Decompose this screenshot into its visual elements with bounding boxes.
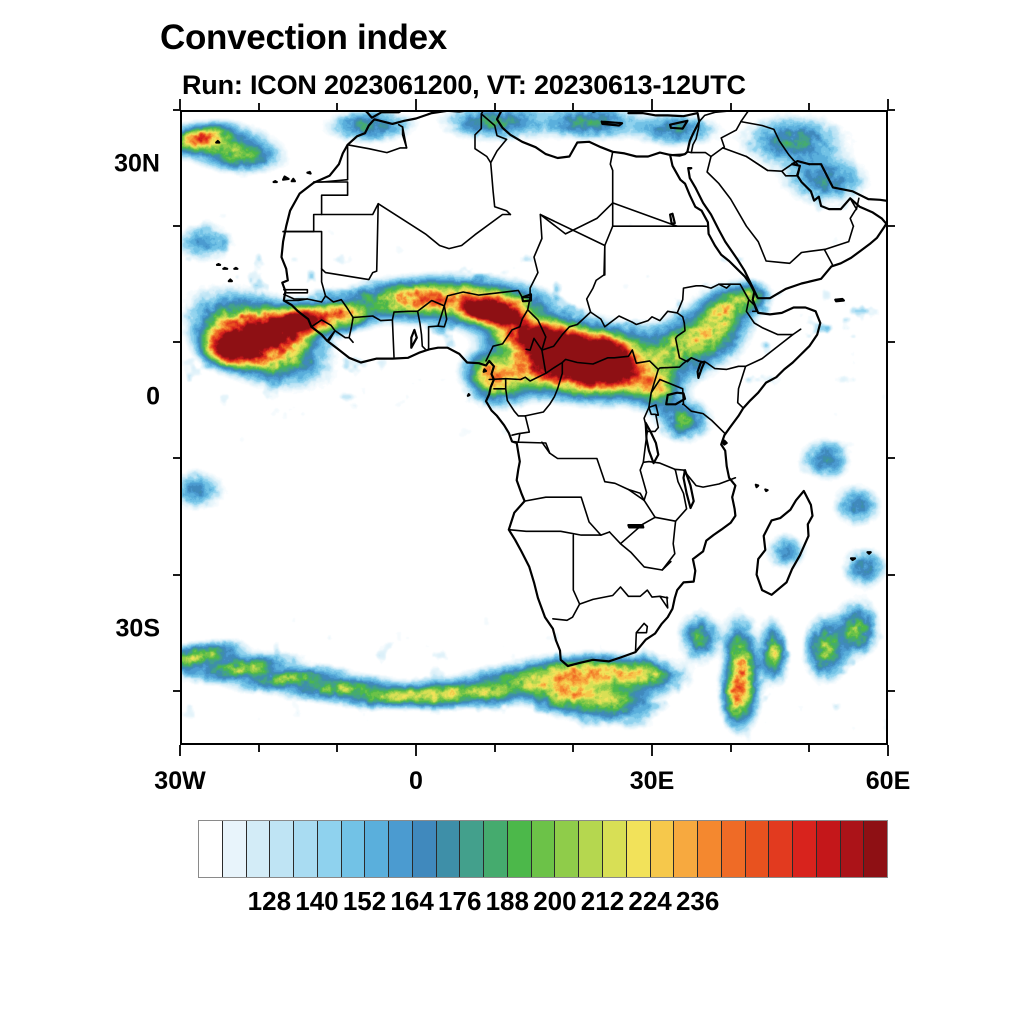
y-tick-right	[888, 574, 895, 576]
y-tick	[173, 341, 180, 343]
x-axis-label: 30E	[630, 767, 674, 796]
x-tick	[258, 745, 260, 752]
country-borders	[283, 110, 859, 652]
page-title: Convection index	[160, 18, 447, 58]
colorbar-cell	[365, 821, 389, 877]
colorbar-cell	[817, 821, 841, 877]
colorbar-tick-label: 188	[486, 886, 529, 917]
colorbar-tick-label: 152	[343, 886, 386, 917]
x-tick	[572, 745, 574, 752]
y-axis-label: 0	[0, 382, 160, 411]
x-tick	[730, 745, 732, 752]
colorbar-cell	[223, 821, 247, 877]
x-tick-top	[494, 103, 496, 110]
y-tick-right	[888, 690, 895, 692]
colorbar-cell	[532, 821, 556, 877]
colorbar-cell	[579, 821, 603, 877]
x-tick-top	[730, 103, 732, 110]
x-axis-label: 60E	[866, 767, 910, 796]
colorbar-cell	[793, 821, 817, 877]
x-tick	[336, 745, 338, 752]
colorbar-cell	[841, 821, 865, 877]
colorbar-tick-label: 164	[390, 886, 433, 917]
x-tick	[179, 745, 181, 756]
colorbar-cell	[698, 821, 722, 877]
page-subtitle: Run: ICON 2023061200, VT: 20230613-12UTC	[182, 70, 746, 101]
colorbar-cell	[555, 821, 579, 877]
map-plot-area	[180, 110, 888, 745]
y-tick	[173, 109, 180, 111]
x-axis-label: 30W	[154, 767, 205, 796]
colorbar-cell	[437, 821, 461, 877]
x-tick	[415, 745, 417, 756]
colorbar-cell	[627, 821, 651, 877]
y-tick-right	[888, 225, 895, 227]
colorbar[interactable]	[198, 820, 888, 878]
colorbar-cell	[247, 821, 271, 877]
colorbar-tick-label: 200	[533, 886, 576, 917]
y-tick	[173, 690, 180, 692]
colorbar-cell	[389, 821, 413, 877]
map-geography	[180, 110, 888, 745]
convection-index-figure: Convection index Run: ICON 2023061200, V…	[0, 0, 1024, 1024]
x-tick-top	[336, 103, 338, 110]
coastlines	[194, 110, 888, 666]
x-tick-top	[808, 103, 810, 110]
colorbar-cell	[199, 821, 223, 877]
colorbar-cell	[294, 821, 318, 877]
y-tick	[173, 457, 180, 459]
colorbar-cell	[769, 821, 793, 877]
x-axis-label: 0	[409, 767, 423, 796]
colorbar-cell	[460, 821, 484, 877]
y-tick-right	[888, 109, 895, 111]
colorbar-cell	[484, 821, 508, 877]
colorbar-tick-label: 224	[628, 886, 671, 917]
colorbar-tick-label: 236	[676, 886, 719, 917]
y-tick	[173, 574, 180, 576]
colorbar-cell	[318, 821, 342, 877]
colorbar-cell	[864, 821, 887, 877]
colorbar-cell	[746, 821, 770, 877]
colorbar-tick-label: 140	[295, 886, 338, 917]
colorbar-cell	[651, 821, 675, 877]
x-tick	[494, 745, 496, 752]
colorbar-cell	[508, 821, 532, 877]
y-tick	[173, 225, 180, 227]
colorbar-cell	[413, 821, 437, 877]
x-tick	[651, 745, 653, 756]
y-tick-right	[888, 341, 895, 343]
colorbar-cell	[722, 821, 746, 877]
y-axis-label: 30N	[0, 150, 160, 179]
y-tick-right	[888, 457, 895, 459]
x-tick	[887, 745, 889, 756]
colorbar-tick-label: 176	[438, 886, 481, 917]
x-tick-top	[651, 99, 653, 110]
colorbar-cell	[674, 821, 698, 877]
x-tick	[808, 745, 810, 752]
x-tick-top	[572, 103, 574, 110]
colorbar-tick-label: 128	[248, 886, 291, 917]
colorbar-cell	[603, 821, 627, 877]
y-axis-label: 30S	[0, 614, 160, 643]
colorbar-cell	[270, 821, 294, 877]
x-tick-top	[258, 103, 260, 110]
colorbar-tick-label: 212	[581, 886, 624, 917]
x-tick-top	[415, 99, 417, 110]
colorbar-cell	[342, 821, 366, 877]
